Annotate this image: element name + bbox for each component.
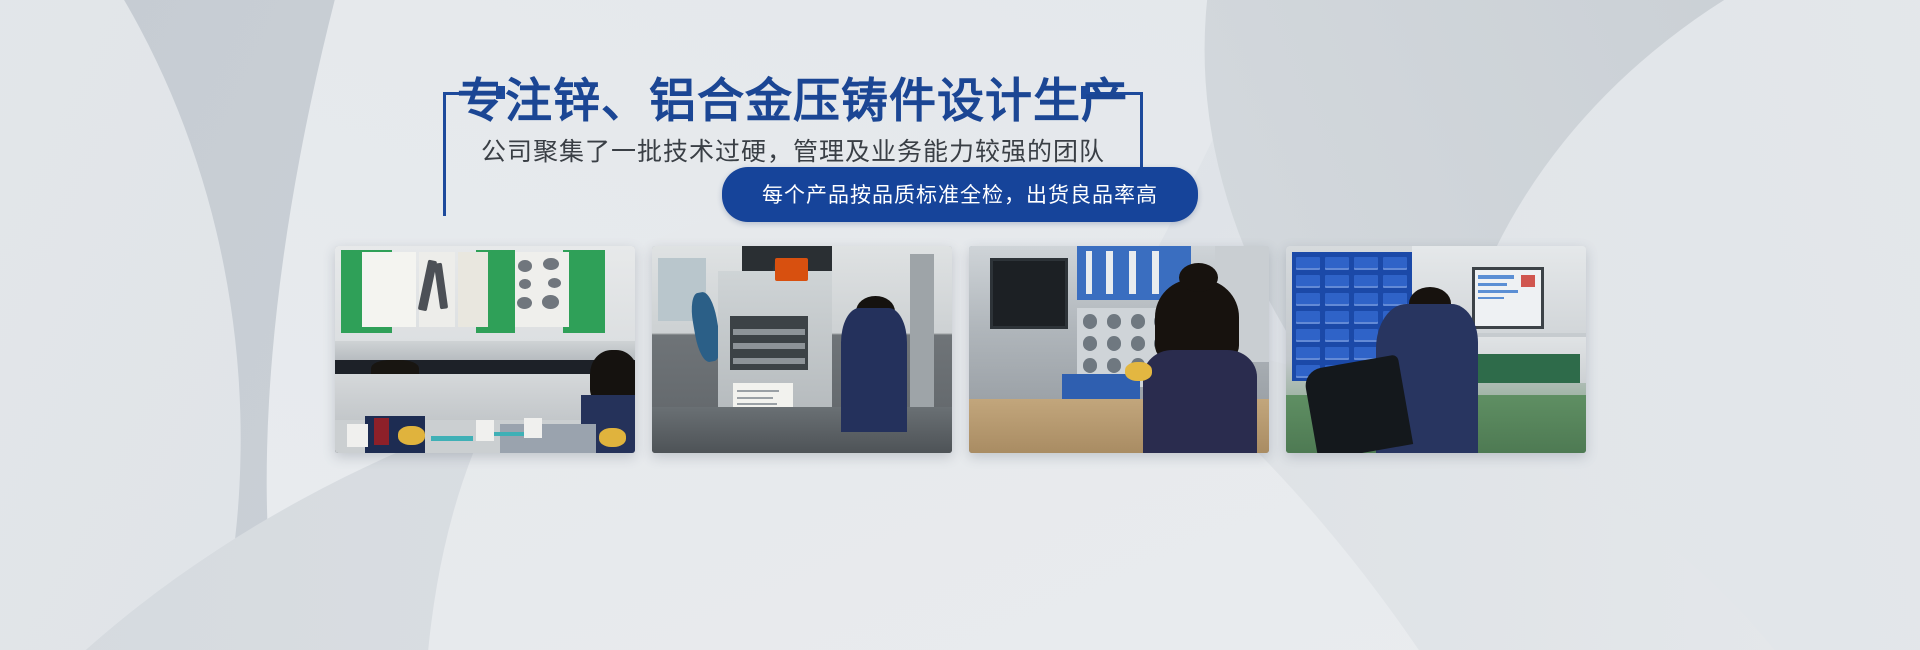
photo1-wall-outlet-1 bbox=[347, 424, 368, 447]
photo4-monitor bbox=[1472, 267, 1544, 329]
page-title: 专注锌、铝合金压铸件设计生产 bbox=[443, 72, 1143, 130]
photo2-floor bbox=[652, 407, 952, 453]
photo1-posted-document-5 bbox=[539, 252, 569, 327]
photo4-office-chair bbox=[1302, 354, 1412, 453]
photo1-posted-document-4 bbox=[515, 252, 539, 327]
photo1-posted-document-1 bbox=[362, 252, 416, 327]
photo1-worker-left-sleeve bbox=[374, 418, 389, 445]
photo2-tooling-bar-3 bbox=[733, 358, 805, 364]
photo-office-workstation[interactable] bbox=[1286, 246, 1586, 453]
photo1-shelf-edge bbox=[335, 341, 635, 360]
photo1-glove-right bbox=[599, 428, 626, 447]
photo1-parts-tray bbox=[500, 424, 596, 453]
photo3-monitor bbox=[990, 258, 1068, 328]
photo2-tooling-bar-1 bbox=[733, 329, 805, 335]
photo1-wall-outlet-2 bbox=[476, 420, 494, 441]
photo-strip bbox=[0, 246, 1920, 453]
photo3-worker-glove bbox=[1125, 362, 1152, 381]
photo2-control-panel bbox=[775, 258, 808, 281]
photo1-posted-document-3 bbox=[458, 252, 488, 327]
photo1-glove-left bbox=[398, 426, 425, 445]
photo1-posted-document-2 bbox=[419, 252, 455, 327]
photo2-tooling-bar-2 bbox=[733, 343, 805, 349]
photo-packing-station[interactable] bbox=[969, 246, 1269, 453]
photo1-cable-1 bbox=[431, 436, 473, 440]
photo-inspection-bench[interactable] bbox=[335, 246, 635, 453]
photo1-wall-outlet-3 bbox=[524, 418, 542, 439]
photo3-worker-hair-bun bbox=[1179, 263, 1218, 292]
photo1-cable-2 bbox=[494, 432, 524, 436]
photo2-operator-uniform bbox=[841, 308, 907, 432]
photo4-desk-mat bbox=[1460, 354, 1580, 383]
photo-die-casting-machine[interactable] bbox=[652, 246, 952, 453]
promo-banner: 专注锌、铝合金压铸件设计生产 公司聚集了一批技术过硬，管理及业务能力较强的团队 … bbox=[0, 0, 1920, 650]
page-subtitle: 公司聚集了一批技术过硬，管理及业务能力较强的团队 bbox=[443, 134, 1143, 170]
photo3-worker-uniform bbox=[1143, 350, 1257, 454]
photo1-green-panel-3 bbox=[563, 250, 605, 333]
photo2-support-column bbox=[910, 254, 934, 420]
quality-badge: 每个产品按品质标准全检，出货良品率高 bbox=[722, 167, 1198, 222]
